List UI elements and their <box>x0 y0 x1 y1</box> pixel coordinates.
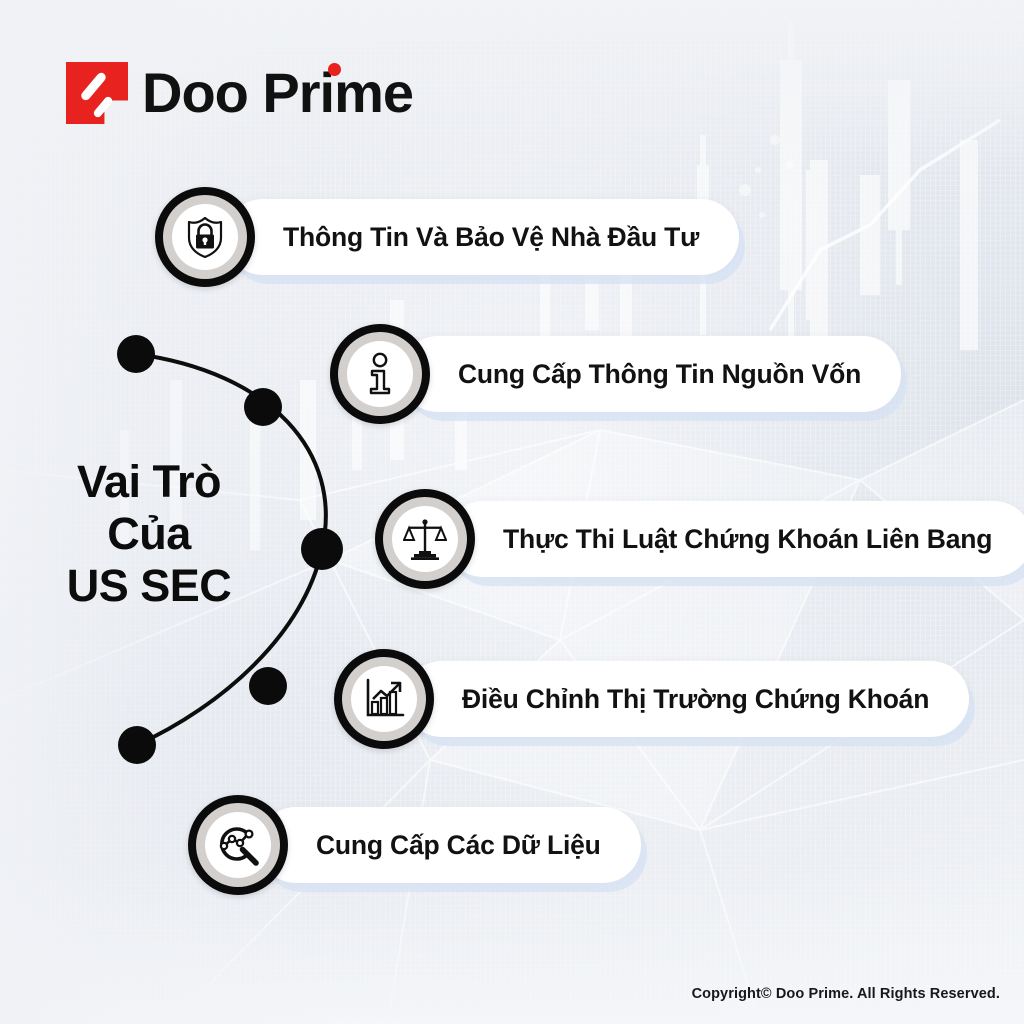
badge-shield-lock <box>155 187 255 287</box>
connector-node-4 <box>249 667 287 705</box>
list-item-pill[interactable]: Thực Thi Luật Chứng Khoán Liên Bang <box>445 501 1024 577</box>
list-item-pill[interactable]: Cung Cấp Các Dữ Liệu <box>258 807 641 883</box>
list-item-pill[interactable]: Cung Cấp Thông Tin Nguồn Vốn <box>400 336 901 412</box>
list-item-label: Cung Cấp Thông Tin Nguồn Vốn <box>458 359 861 390</box>
list-item-label: Thông Tin Và Bảo Vệ Nhà Đầu Tư <box>283 222 699 253</box>
scales-of-justice-icon <box>403 517 447 561</box>
connector-node-1 <box>117 335 155 373</box>
shield-lock-icon <box>185 216 225 258</box>
copyright-notice: Copyright© Doo Prime. All Rights Reserve… <box>692 986 1000 1002</box>
information-icon <box>363 352 397 396</box>
badge-data-magnifier <box>188 795 288 895</box>
list-item[interactable]: Thực Thi Luật Chứng Khoán Liên Bang <box>375 489 1024 589</box>
list-item-label: Điều Chỉnh Thị Trường Chứng Khoán <box>462 684 929 715</box>
badge-scales-of-justice <box>375 489 475 589</box>
connector-node-5 <box>118 726 156 764</box>
list-item-label: Thực Thi Luật Chứng Khoán Liên Bang <box>503 524 992 555</box>
list-item[interactable]: Cung Cấp Thông Tin Nguồn Vốn <box>330 324 901 424</box>
badge-information <box>330 324 430 424</box>
connector-node-3 <box>301 528 343 570</box>
list-item-pill[interactable]: Điều Chỉnh Thị Trường Chứng Khoán <box>404 661 969 737</box>
list-item-label: Cung Cấp Các Dữ Liệu <box>316 830 601 861</box>
data-magnifier-icon <box>216 823 260 867</box>
badge-bar-chart-growth <box>334 649 434 749</box>
list-item[interactable]: Cung Cấp Các Dữ Liệu <box>188 795 641 895</box>
bar-chart-growth-icon <box>363 678 405 720</box>
list-item[interactable]: Thông Tin Và Bảo Vệ Nhà Đầu Tư <box>155 187 739 287</box>
page-title-line-1: Vai Trò <box>24 456 274 508</box>
list-item[interactable]: Điều Chỉnh Thị Trường Chứng Khoán <box>334 649 969 749</box>
connector-node-2 <box>244 388 282 426</box>
page-title-line-3: US SEC <box>24 560 274 612</box>
list-item-pill[interactable]: Thông Tin Và Bảo Vệ Nhà Đầu Tư <box>225 199 739 275</box>
page-title-line-2: Của <box>24 508 274 560</box>
infographic-canvas: Doo Prime Vai Trò Của US SEC <box>0 0 1024 1024</box>
page-title: Vai Trò Của US SEC <box>24 456 274 613</box>
